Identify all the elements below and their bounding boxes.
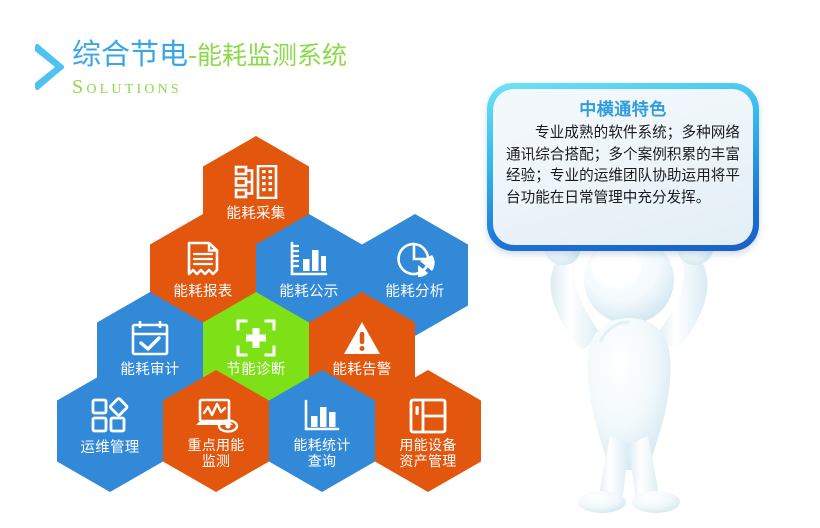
hex-label-line1: 重点用能 <box>166 438 266 454</box>
hex-label: 能耗分析 <box>365 284 465 301</box>
hex-label: 重点用能 监测 <box>166 438 266 470</box>
pie-chart-icon <box>392 240 438 280</box>
network-server-icon <box>233 162 279 202</box>
sign-board: 中横通特色 专业成熟的软件系统；多种网络通讯综合搭配；多个案例积累的丰富经验；专… <box>487 83 759 251</box>
laptop-monitor-icon <box>193 396 239 436</box>
equipment-cabinet-icon <box>405 396 451 436</box>
calendar-check-icon <box>127 318 173 358</box>
warning-triangle-icon <box>339 318 385 358</box>
hex-label: 能耗公示 <box>259 284 359 301</box>
hex-label-line1: 能耗统计 <box>272 438 372 454</box>
hex-label: 能耗报表 <box>153 284 253 301</box>
sign-board-inner: 中横通特色 专业成熟的软件系统；多种网络通讯综合搭配；多个案例积累的丰富经验；专… <box>493 89 753 245</box>
statistics-bar-icon <box>299 396 345 436</box>
hex-label: 运维管理 <box>60 440 160 457</box>
hexagon-diagram: 能耗采集 能耗报表 <box>0 0 480 528</box>
sign-board-title: 中横通特色 <box>579 99 667 121</box>
bar-chart-ruler-icon <box>286 240 332 280</box>
diagnosis-scan-icon <box>233 318 279 358</box>
hex-label-line1: 用能设备 <box>378 438 478 454</box>
hex-label-line2: 查询 <box>272 454 372 470</box>
hex-label: 能耗统计 查询 <box>272 438 372 470</box>
hex-label: 能耗采集 <box>206 206 306 223</box>
grid-blocks-icon <box>87 396 133 436</box>
hex-label-line2: 资产管理 <box>378 454 478 470</box>
hex-label: 用能设备 资产管理 <box>378 438 478 470</box>
report-document-icon <box>180 240 226 280</box>
mascot-figure <box>498 218 760 518</box>
sign-board-body: 专业成熟的软件系统；多种网络通讯综合搭配；多个案例积累的丰富经验；专业的运维团队… <box>506 122 740 208</box>
hex-label-line2: 监测 <box>166 454 266 470</box>
